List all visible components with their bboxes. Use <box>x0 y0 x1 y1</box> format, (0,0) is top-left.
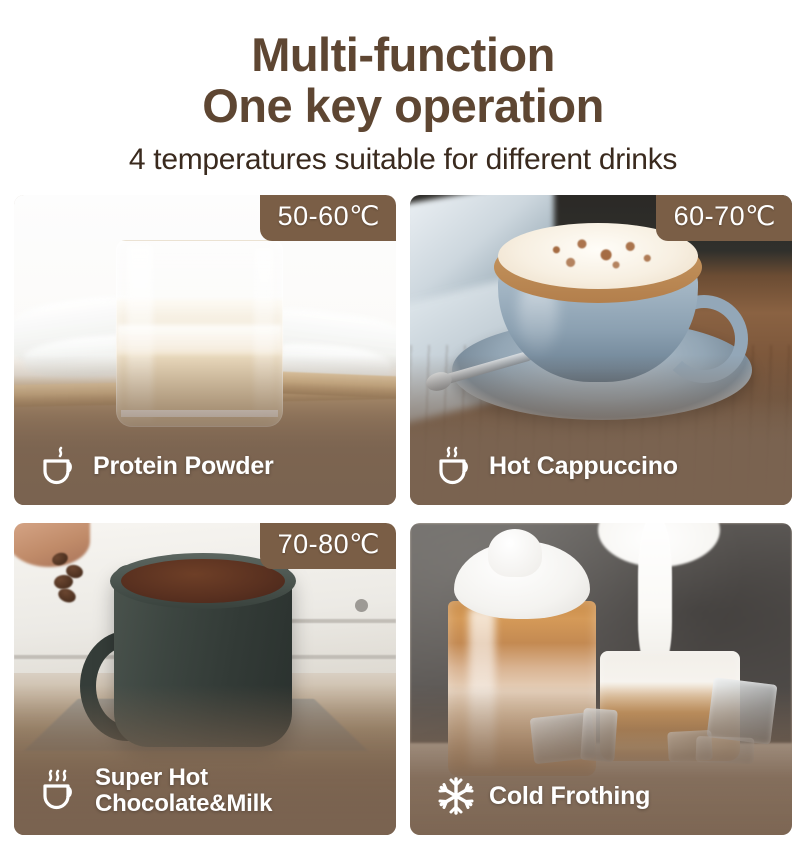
card-label-text: Cold Frothing <box>489 783 650 810</box>
drink-card-super-hot-chocolate-milk[interactable]: 70-80℃ Super Hot Chocolate&Milk <box>14 523 396 835</box>
card-label: Hot Cappuccino <box>436 445 678 487</box>
pouring-foam-stream <box>638 523 672 667</box>
drink-card-hot-cappuccino[interactable]: 60-70℃ Hot Cappuccino <box>410 195 792 505</box>
card-label-text: Protein Powder <box>93 453 274 480</box>
card-label: Super Hot Chocolate&Milk <box>40 765 272 817</box>
cup-steam-3-icon <box>40 768 82 814</box>
temperature-badge: 60-70℃ <box>656 195 792 241</box>
card-label: Protein Powder <box>40 445 274 487</box>
coffee-bean <box>56 586 78 605</box>
title-line-1: Multi-function <box>0 30 806 80</box>
temperature-badge: 50-60℃ <box>260 195 396 241</box>
appliance-knob <box>355 599 368 612</box>
temperature-badge: 70-80℃ <box>260 523 396 569</box>
cup-steam-2-icon <box>436 445 476 487</box>
cinnamon-dusting <box>528 233 670 275</box>
card-label-text: Super Hot Chocolate&Milk <box>95 765 272 817</box>
drink-card-cold-frothing[interactable]: Cold Frothing <box>410 523 792 835</box>
page-subtitle: 4 temperatures suitable for different dr… <box>0 142 806 178</box>
page-title: Multi-function One key operation <box>0 30 806 132</box>
ice-cube <box>696 736 755 764</box>
cold-foam-peak <box>488 529 542 577</box>
bubble-row <box>121 410 278 417</box>
hot-chocolate-surface <box>121 559 285 603</box>
ice-cube <box>707 677 778 744</box>
foam-layer <box>117 325 282 355</box>
card-label-text: Hot Cappuccino <box>489 453 678 480</box>
ice-cube <box>580 708 618 762</box>
title-line-2: One key operation <box>0 80 806 132</box>
cup-steam-1-icon <box>40 445 80 487</box>
drink-card-protein-powder[interactable]: 50-60℃ Protein Powder <box>14 195 396 505</box>
drink-mode-grid: 50-60℃ Protein Powder <box>14 195 792 835</box>
page-header: Multi-function One key operation 4 tempe… <box>0 0 806 178</box>
drinking-glass <box>116 240 283 427</box>
snowflake-icon <box>436 775 476 817</box>
card-label: Cold Frothing <box>436 775 650 817</box>
